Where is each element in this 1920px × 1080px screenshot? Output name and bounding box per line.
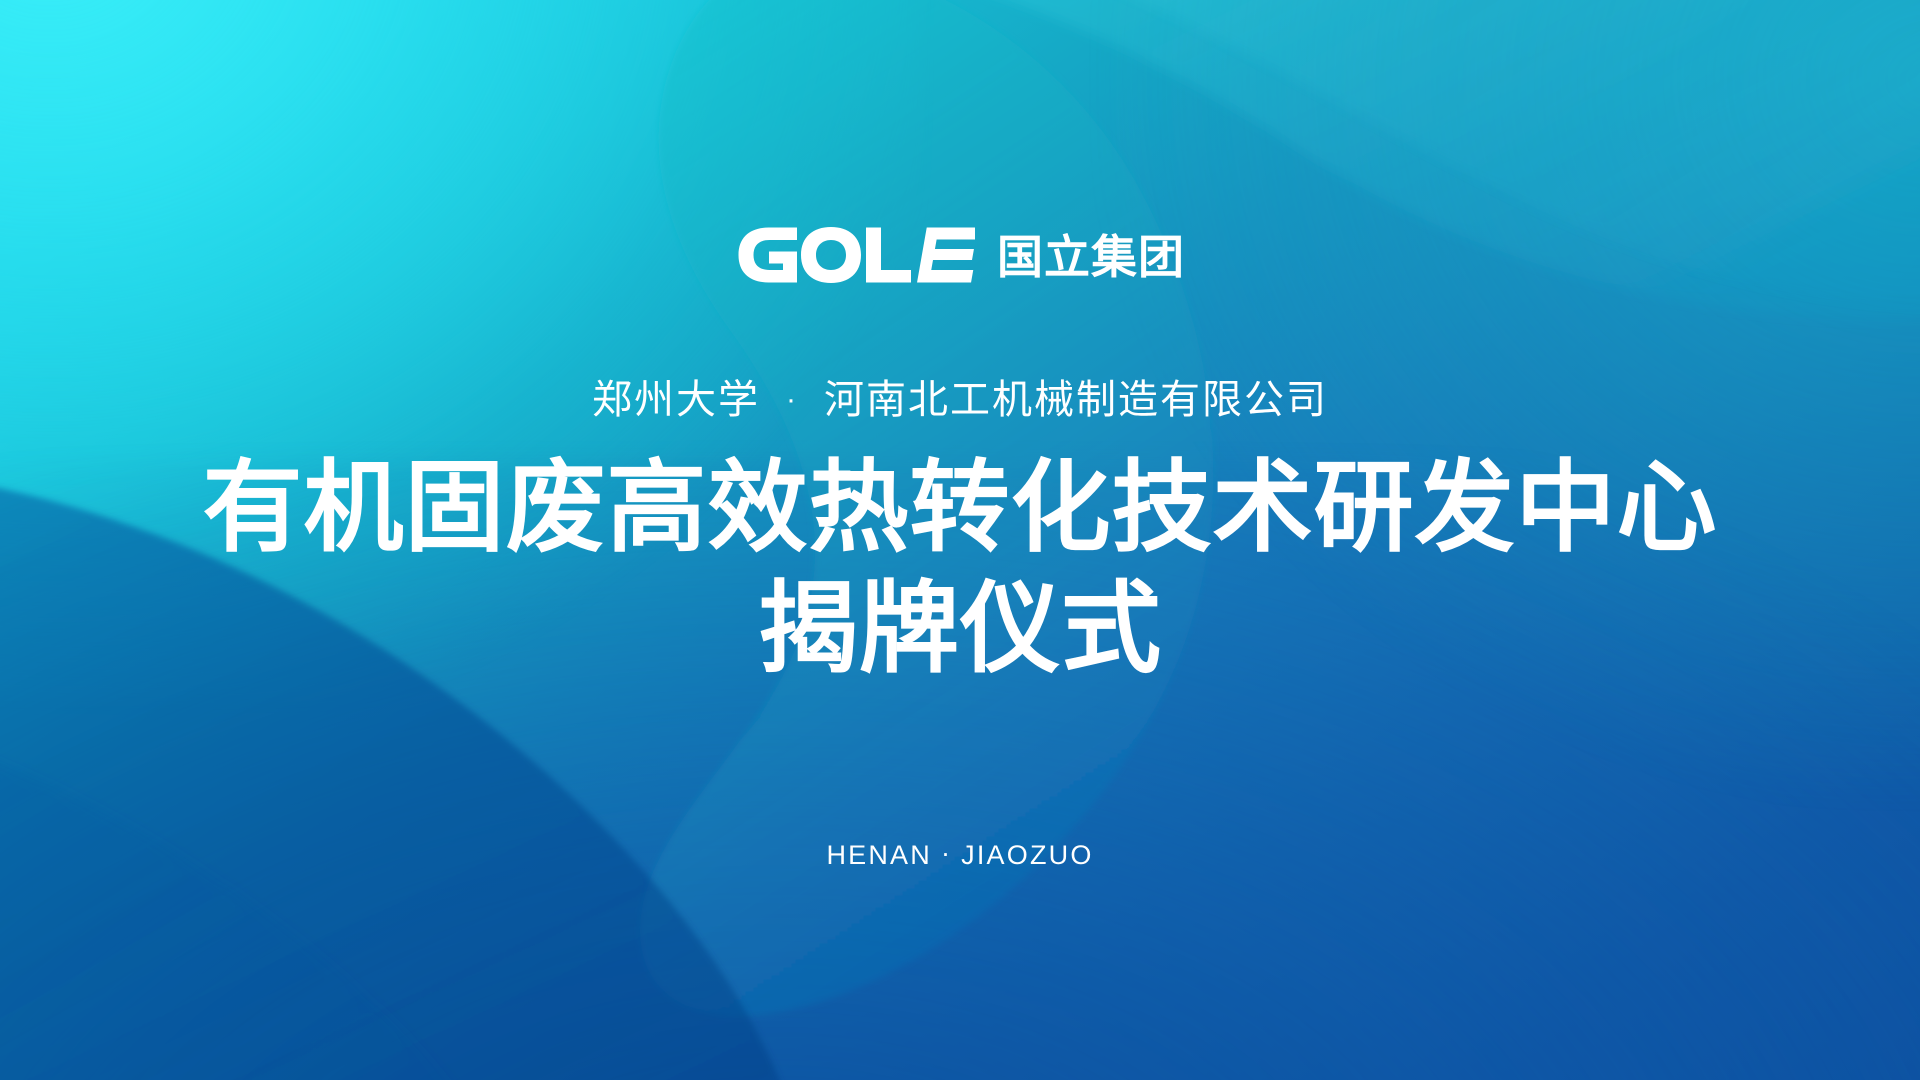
- subtitle-left: 郑州大学: [592, 378, 760, 422]
- brand-logo: 国立集团: [0, 224, 1920, 290]
- subtitle-right: 河南北工机械制造有限公司: [824, 378, 1328, 422]
- title-slide: 国立集团 郑州大学·河南北工机械制造有限公司 有机固废高效热转化技术研发中心 揭…: [0, 0, 1920, 1080]
- subtitle-separator: ·: [760, 382, 824, 418]
- location-footer: HENAN·JIAOZUO: [0, 840, 1920, 871]
- page-title: 有机固废高效热转化技术研发中心 揭牌仪式: [0, 452, 1920, 686]
- slide-content: 国立集团 郑州大学·河南北工机械制造有限公司 有机固废高效热转化技术研发中心 揭…: [0, 0, 1920, 1080]
- location-footer-left: HENAN: [826, 840, 932, 870]
- page-title-line-1: 有机固废高效热转化技术研发中心: [0, 452, 1920, 565]
- brand-logo-cn-label: 国立集团: [997, 234, 1185, 280]
- gole-wordmark-logo-icon: [735, 226, 975, 289]
- subtitle: 郑州大学·河南北工机械制造有限公司: [0, 376, 1920, 424]
- page-title-line-2: 揭牌仪式: [0, 573, 1920, 686]
- location-footer-right: JIAOZUO: [961, 840, 1093, 870]
- location-footer-separator: ·: [932, 838, 961, 869]
